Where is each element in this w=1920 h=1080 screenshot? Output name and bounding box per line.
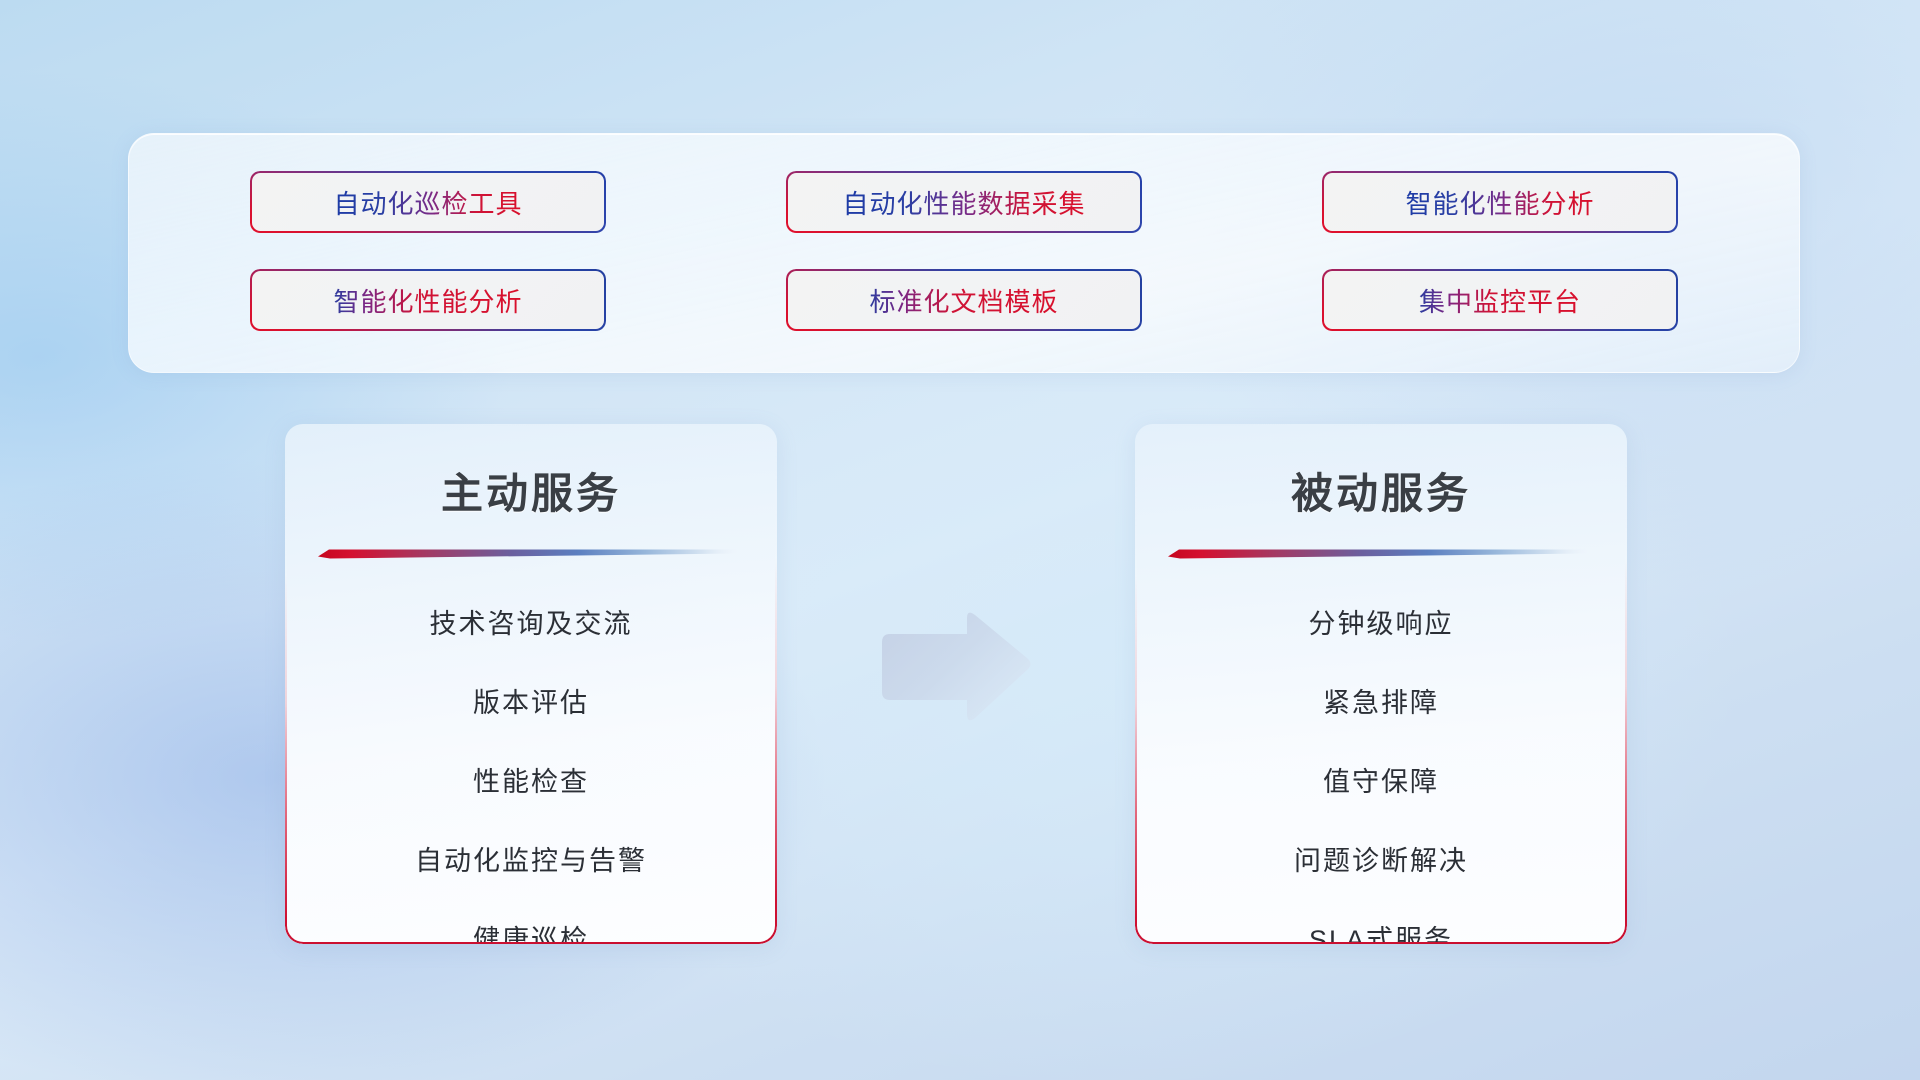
capability-pill-label: 智能化性能分析 [1405,184,1594,221]
capability-pill[interactable]: 自动化性能数据采集 [786,171,1142,233]
slide-canvas: 自动化巡检工具 自动化性能数据采集 智能化性能分析 智能化性能分析 标准化文档模… [0,0,1920,1080]
list-item: 问题诊断解决 [1294,834,1468,889]
list-item: 自动化监控与告警 [415,834,647,889]
list-item: 版本评估 [473,676,589,731]
capability-pill-label: 自动化性能数据采集 [842,184,1085,221]
capability-pill-label: 标准化文档模板 [869,282,1058,319]
service-card-proactive: 主动服务 技术咨询及 [285,424,777,944]
gradient-rule-icon [318,547,737,559]
capability-pill[interactable]: 智能化性能分析 [1322,171,1678,233]
card-list: 分钟级响应 紧急排障 值守保障 问题诊断解决 SLA式服务 [1135,585,1627,944]
capability-pill-label: 智能化性能分析 [333,282,522,319]
card-title: 被动服务 [1135,460,1627,521]
capability-pill[interactable]: 智能化性能分析 [250,269,606,331]
capability-pill-label: 自动化巡检工具 [333,184,522,221]
card-divider [318,547,737,559]
right-arrow-icon [872,608,1034,728]
card-list: 技术咨询及交流 版本评估 性能检查 自动化监控与告警 健康巡检 [285,585,777,944]
capability-pill[interactable]: 集中监控平台 [1322,269,1678,331]
capability-pill[interactable]: 自动化巡检工具 [250,171,606,233]
capability-pill[interactable]: 标准化文档模板 [786,269,1142,331]
list-item: 健康巡检 [473,913,589,944]
list-item: 紧急排障 [1323,676,1439,731]
capability-pill-label: 集中监控平台 [1419,282,1581,319]
list-item: SLA式服务 [1309,913,1453,944]
list-item: 分钟级响应 [1309,597,1454,652]
capability-panel: 自动化巡检工具 自动化性能数据采集 智能化性能分析 智能化性能分析 标准化文档模… [128,133,1800,373]
card-divider [1168,547,1587,559]
card-title: 主动服务 [285,460,777,521]
gradient-rule-icon [1168,547,1587,559]
list-item: 技术咨询及交流 [430,597,633,652]
list-item: 值守保障 [1323,755,1439,810]
list-item: 性能检查 [473,755,589,810]
service-card-reactive: 被动服务 分钟级响应 [1135,424,1627,944]
